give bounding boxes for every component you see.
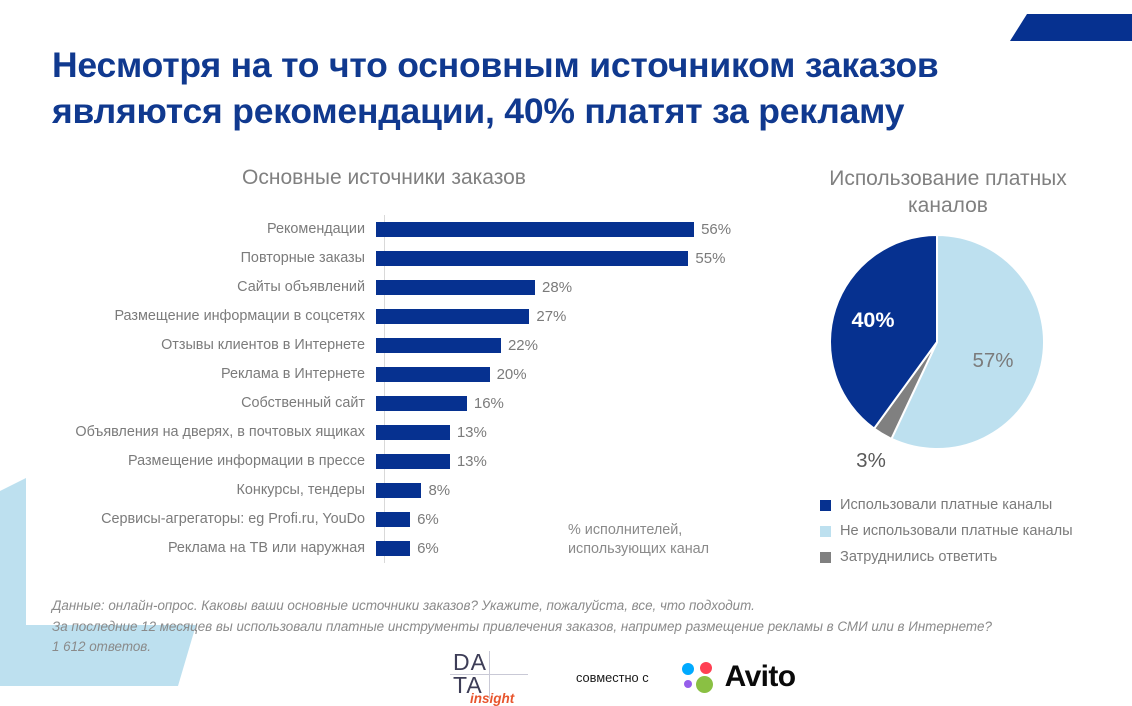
bar-fill [376,280,535,295]
bar-track: 27% [376,302,780,331]
bar-value-label: 56% [694,221,731,238]
bar-track: 13% [376,447,780,476]
avito-dot-green-icon [696,676,713,693]
bar-value-label: 16% [467,395,504,412]
bar-value-label: 13% [450,424,487,441]
logo-strip: DA TA insight совместно с Avito [448,648,796,706]
bar-track: 28% [376,273,780,302]
bar-value-label: 27% [529,308,566,325]
bar-chart-row: Рекомендации56% [20,215,780,244]
legend-item[interactable]: Использовали платные каналы [820,492,1073,518]
data-insight-logo: DA TA insight [448,649,536,705]
bar-chart-row: Размещение информации в соцсетях27% [20,302,780,331]
bar-value-label: 28% [535,279,572,296]
bar-category-label: Размещение информации в прессе [20,453,376,470]
bar-category-label: Рекомендации [20,221,376,238]
partnership-label: совместно с [576,670,649,685]
bar-fill [376,367,490,382]
bar-category-label: Сайты объявлений [20,279,376,296]
pie-value-label: 57% [972,349,1013,372]
bar-chart-row: Отзывы клиентов в Интернете22% [20,331,780,360]
bar-chart-row: Размещение информации в прессе13% [20,447,780,476]
bar-category-label: Сервисы-агрегаторы: eg Profi.ru, YouDo [20,511,376,528]
footnote-line-1: Данные: онлайн-опрос. Каковы ваши основн… [52,596,1092,617]
bar-chart-annotation-line-2: использующих канал [568,540,709,559]
pie-chart-title-line-2: каналов [908,194,988,217]
legend-item[interactable]: Затруднились ответить [820,544,1073,570]
bar-chart-title: Основные источники заказов [20,165,748,191]
pie-value-label: 40% [851,308,894,332]
avito-dots-icon [681,660,717,694]
bar-track: 20% [376,360,780,389]
bar-fill [376,512,410,527]
top-right-banner-shape [1010,14,1132,41]
bar-category-label: Повторные заказы [20,250,376,267]
bar-fill [376,251,688,266]
legend-label: Затруднились ответить [840,549,997,565]
bar-chart-row: Повторные заказы55% [20,244,780,273]
bar-track: 22% [376,331,780,360]
legend-item[interactable]: Не использовали платные каналы [820,518,1073,544]
pie-chart-title: Использование платных каналов [790,165,1106,219]
bar-chart-panel: Основные источники заказов Рекомендации5… [20,165,780,585]
bar-track: 16% [376,389,780,418]
logo-text-insight: insight [470,692,514,706]
legend-label: Использовали платные каналы [840,497,1052,513]
bar-value-label: 6% [410,540,439,557]
bar-track: 56% [376,215,780,244]
pie-chart-graphic: 40%57%3% [790,227,1106,487]
bar-track: 8% [376,476,780,505]
bar-category-label: Конкурсы, тендеры [20,482,376,499]
bar-fill [376,425,450,440]
pie-chart-title-line-1: Использование платных [829,167,1067,190]
avito-logo: Avito [681,660,796,694]
bar-chart-row: Реклама в Интернете20% [20,360,780,389]
legend-swatch-icon [820,526,831,537]
legend-label: Не использовали платные каналы [840,523,1073,539]
bar-category-label: Реклама в Интернете [20,366,376,383]
bar-fill [376,396,467,411]
bar-chart-annotation: % исполнителей, использующих канал [568,521,709,559]
bar-chart-row: Объявления на дверях, в почтовых ящиках1… [20,418,780,447]
avito-wordmark: Avito [725,661,796,693]
bar-chart-row: Собственный сайт16% [20,389,780,418]
pie-value-label: 3% [856,449,886,472]
avito-dot-purple-icon [684,680,692,688]
bar-fill [376,541,410,556]
bar-value-label: 22% [501,337,538,354]
bar-chart-row: Конкурсы, тендеры8% [20,476,780,505]
logo-text-da: DA [453,650,487,674]
avito-dot-red-icon [700,662,712,674]
bar-category-label: Отзывы клиентов в Интернете [20,337,376,354]
bar-fill [376,454,450,469]
bar-category-label: Размещение информации в соцсетях [20,308,376,325]
legend-swatch-icon [820,500,831,511]
footnote-line-2: За последние 12 месяцев вы использовали … [52,617,1092,638]
bar-value-label: 8% [421,482,450,499]
page-title-line-1: Несмотря на то что основным источником з… [52,42,1082,88]
bar-value-label: 55% [688,250,725,267]
bar-track: 13% [376,418,780,447]
bar-value-label: 13% [450,453,487,470]
page-title: Несмотря на то что основным источником з… [52,42,1082,134]
bar-fill [376,222,694,237]
bar-chart-annotation-line-1: % исполнителей, [568,521,709,540]
avito-dot-blue-icon [682,663,694,675]
bar-value-label: 20% [490,366,527,383]
bar-fill [376,483,421,498]
legend-swatch-icon [820,552,831,563]
bar-category-label: Реклама на ТВ или наружная [20,540,376,557]
bar-category-label: Собственный сайт [20,395,376,412]
bar-fill [376,309,529,324]
bar-value-label: 6% [410,511,439,528]
page-title-line-2: являются рекомендации, 40% платят за рек… [52,88,1082,134]
bar-category-label: Объявления на дверях, в почтовых ящиках [20,424,376,441]
bar-chart-row: Сайты объявлений28% [20,273,780,302]
pie-chart-panel: Использование платных каналов 40%57%3% И… [790,165,1132,585]
bar-chart-plot: Рекомендации56%Повторные заказы55%Сайты … [20,215,780,563]
bar-fill [376,338,501,353]
pie-chart-legend: Использовали платные каналыНе использова… [820,492,1073,570]
bar-track: 55% [376,244,780,273]
